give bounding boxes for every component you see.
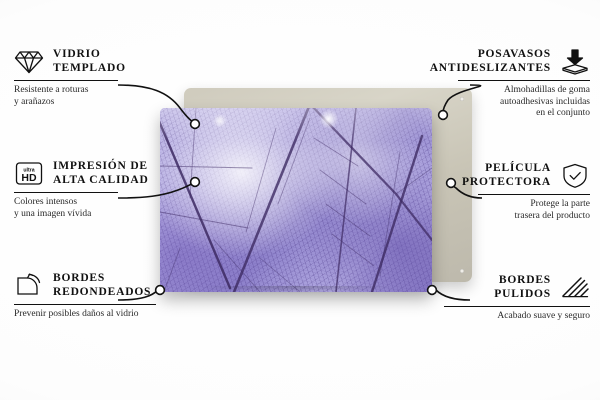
coaster-pad-download-icon [560, 48, 590, 75]
feature-impresion-alta-calidad: ultra HD IMPRESIÓN DE ALTA CALIDAD Color… [14, 160, 164, 220]
backing-screw-bottom-icon [460, 269, 464, 273]
feature-divider [14, 80, 118, 81]
feature-divider [458, 80, 590, 81]
feature-subtitle: Colores intensos y una imagen vívida [14, 197, 164, 220]
feature-title: BORDES PULIDOS [494, 274, 551, 301]
feature-title: BORDES REDONDEADOS [53, 272, 151, 299]
diamond-icon [14, 48, 44, 75]
feature-subtitle: Almohadillas de goma autoadhesivas inclu… [420, 85, 590, 120]
feature-divider [444, 306, 590, 307]
rounded-corner-icon [14, 272, 44, 299]
infographic-canvas: VIDRIO TEMPLADO Resistente a roturas y a… [0, 0, 600, 400]
feature-subtitle: Prevenir posibles daños al vidrio [14, 309, 174, 321]
leaf-vein-lines [160, 108, 432, 292]
ultra-hd-icon: ultra HD [14, 160, 44, 187]
feature-bordes-redondeados: BORDES REDONDEADOS Prevenir posibles dañ… [14, 272, 174, 321]
feature-divider [14, 304, 156, 305]
glass-board-image [160, 108, 432, 292]
feature-title: IMPRESIÓN DE ALTA CALIDAD [53, 160, 149, 187]
feature-bordes-pulidos: BORDES PULIDOS Acabado suave y seguro [430, 274, 590, 323]
feature-pelicula-protectora: PELÍCULA PROTECTORA Protege la parte tra… [440, 162, 590, 222]
feature-divider [14, 192, 118, 193]
feature-subtitle: Acabado suave y seguro [430, 311, 590, 323]
ultra-hd-big-label: HD [21, 172, 37, 184]
feature-title: POSAVASOS ANTIDESLIZANTES [430, 48, 551, 75]
feature-title: PELÍCULA PROTECTORA [462, 162, 551, 189]
product-drop-shadow [163, 286, 431, 302]
diagonal-lines-icon [560, 274, 590, 301]
feature-title: VIDRIO TEMPLADO [53, 48, 126, 75]
feature-posavasos-antideslizantes: POSAVASOS ANTIDESLIZANTES Almohadillas d… [420, 48, 590, 120]
feature-subtitle: Resistente a roturas y arañazos [14, 85, 154, 108]
shield-check-icon [560, 162, 590, 189]
feature-vidrio-templado: VIDRIO TEMPLADO Resistente a roturas y a… [14, 48, 154, 108]
feature-divider [478, 194, 590, 195]
feature-subtitle: Protege la parte trasera del producto [440, 199, 590, 222]
